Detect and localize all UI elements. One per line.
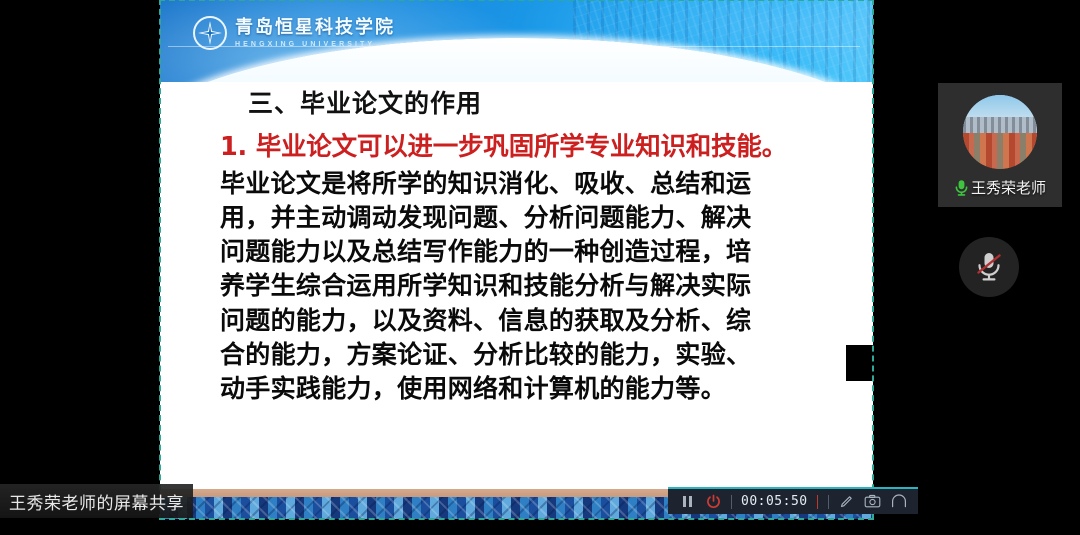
slide-body-line: 毕业论文是将所学的知识消化、吸收、总结和运 <box>220 167 859 201</box>
video-conference-screen: 青岛恒星科技学院 HENGXING UNIVERSITY 三、毕业论文的作用 1… <box>0 0 1080 535</box>
slide-body-line: 用，并主动调动发现问题、分析问题能力、解决 <box>220 201 859 235</box>
black-occluder-rect <box>846 345 873 381</box>
toolbar-divider-1 <box>731 495 732 509</box>
stop-recording-button[interactable] <box>700 489 726 514</box>
participant-name-row: 王秀荣老师 <box>938 177 1062 198</box>
slide-lead-heading: 1. 毕业论文可以进一步巩固所学专业知识和技能。 <box>220 133 859 163</box>
toolbar-divider-2 <box>817 495 818 509</box>
participant-tile[interactable]: 王秀荣老师 <box>938 83 1062 207</box>
avatar <box>963 95 1037 169</box>
screen-share-label: 王秀荣老师的屏幕共享 <box>0 484 193 518</box>
slide-title: 三、毕业论文的作用 <box>248 84 482 120</box>
university-logo: 青岛恒星科技学院 HENGXING UNIVERSITY <box>193 16 395 50</box>
pen-icon[interactable] <box>834 489 860 514</box>
logo-chinese-name: 青岛恒星科技学院 <box>235 19 395 37</box>
toolbar-divider-3 <box>828 495 829 509</box>
recording-toolbar[interactable]: 00:05:50 <box>668 487 918 514</box>
microphone-icon <box>954 179 969 197</box>
camera-icon[interactable] <box>860 489 886 514</box>
compass-star-icon <box>193 16 227 50</box>
slide-header-banner: 青岛恒星科技学院 HENGXING UNIVERSITY <box>160 0 873 82</box>
screen-share-label-text: 王秀荣老师的屏幕共享 <box>9 489 184 514</box>
slide-body-line: 合的能力，方案论证、分析比较的能力，实验、 <box>220 338 859 372</box>
recording-timer: 00:05:50 <box>737 494 812 509</box>
slide-body-line: 问题的能力，以及资料、信息的获取及分析、综 <box>220 304 859 338</box>
presentation-slide: 青岛恒星科技学院 HENGXING UNIVERSITY 三、毕业论文的作用 1… <box>160 0 873 519</box>
pause-button[interactable] <box>674 489 700 514</box>
mic-muted-icon[interactable] <box>959 237 1019 297</box>
participant-name: 王秀荣老师 <box>971 177 1046 198</box>
slide-body-line: 问题能力以及总结写作能力的一种创造过程，培 <box>220 235 859 269</box>
slide-body-line: 养学生综合运用所学知识和技能分析与解决实际 <box>220 269 859 303</box>
shared-screen-region[interactable]: 青岛恒星科技学院 HENGXING UNIVERSITY 三、毕业论文的作用 1… <box>160 0 873 519</box>
slide-paragraph: 毕业论文是将所学的知识消化、吸收、总结和运用，并主动调动发现问题、分析问题能力、… <box>220 167 859 407</box>
slide-body-line: 动手实践能力，使用网络和计算机的能力等。 <box>220 372 859 406</box>
home-icon[interactable] <box>886 489 912 514</box>
logo-english-name: HENGXING UNIVERSITY <box>235 41 395 48</box>
slide-body: 1. 毕业论文可以进一步巩固所学专业知识和技能。 毕业论文是将所学的知识消化、吸… <box>220 133 859 406</box>
